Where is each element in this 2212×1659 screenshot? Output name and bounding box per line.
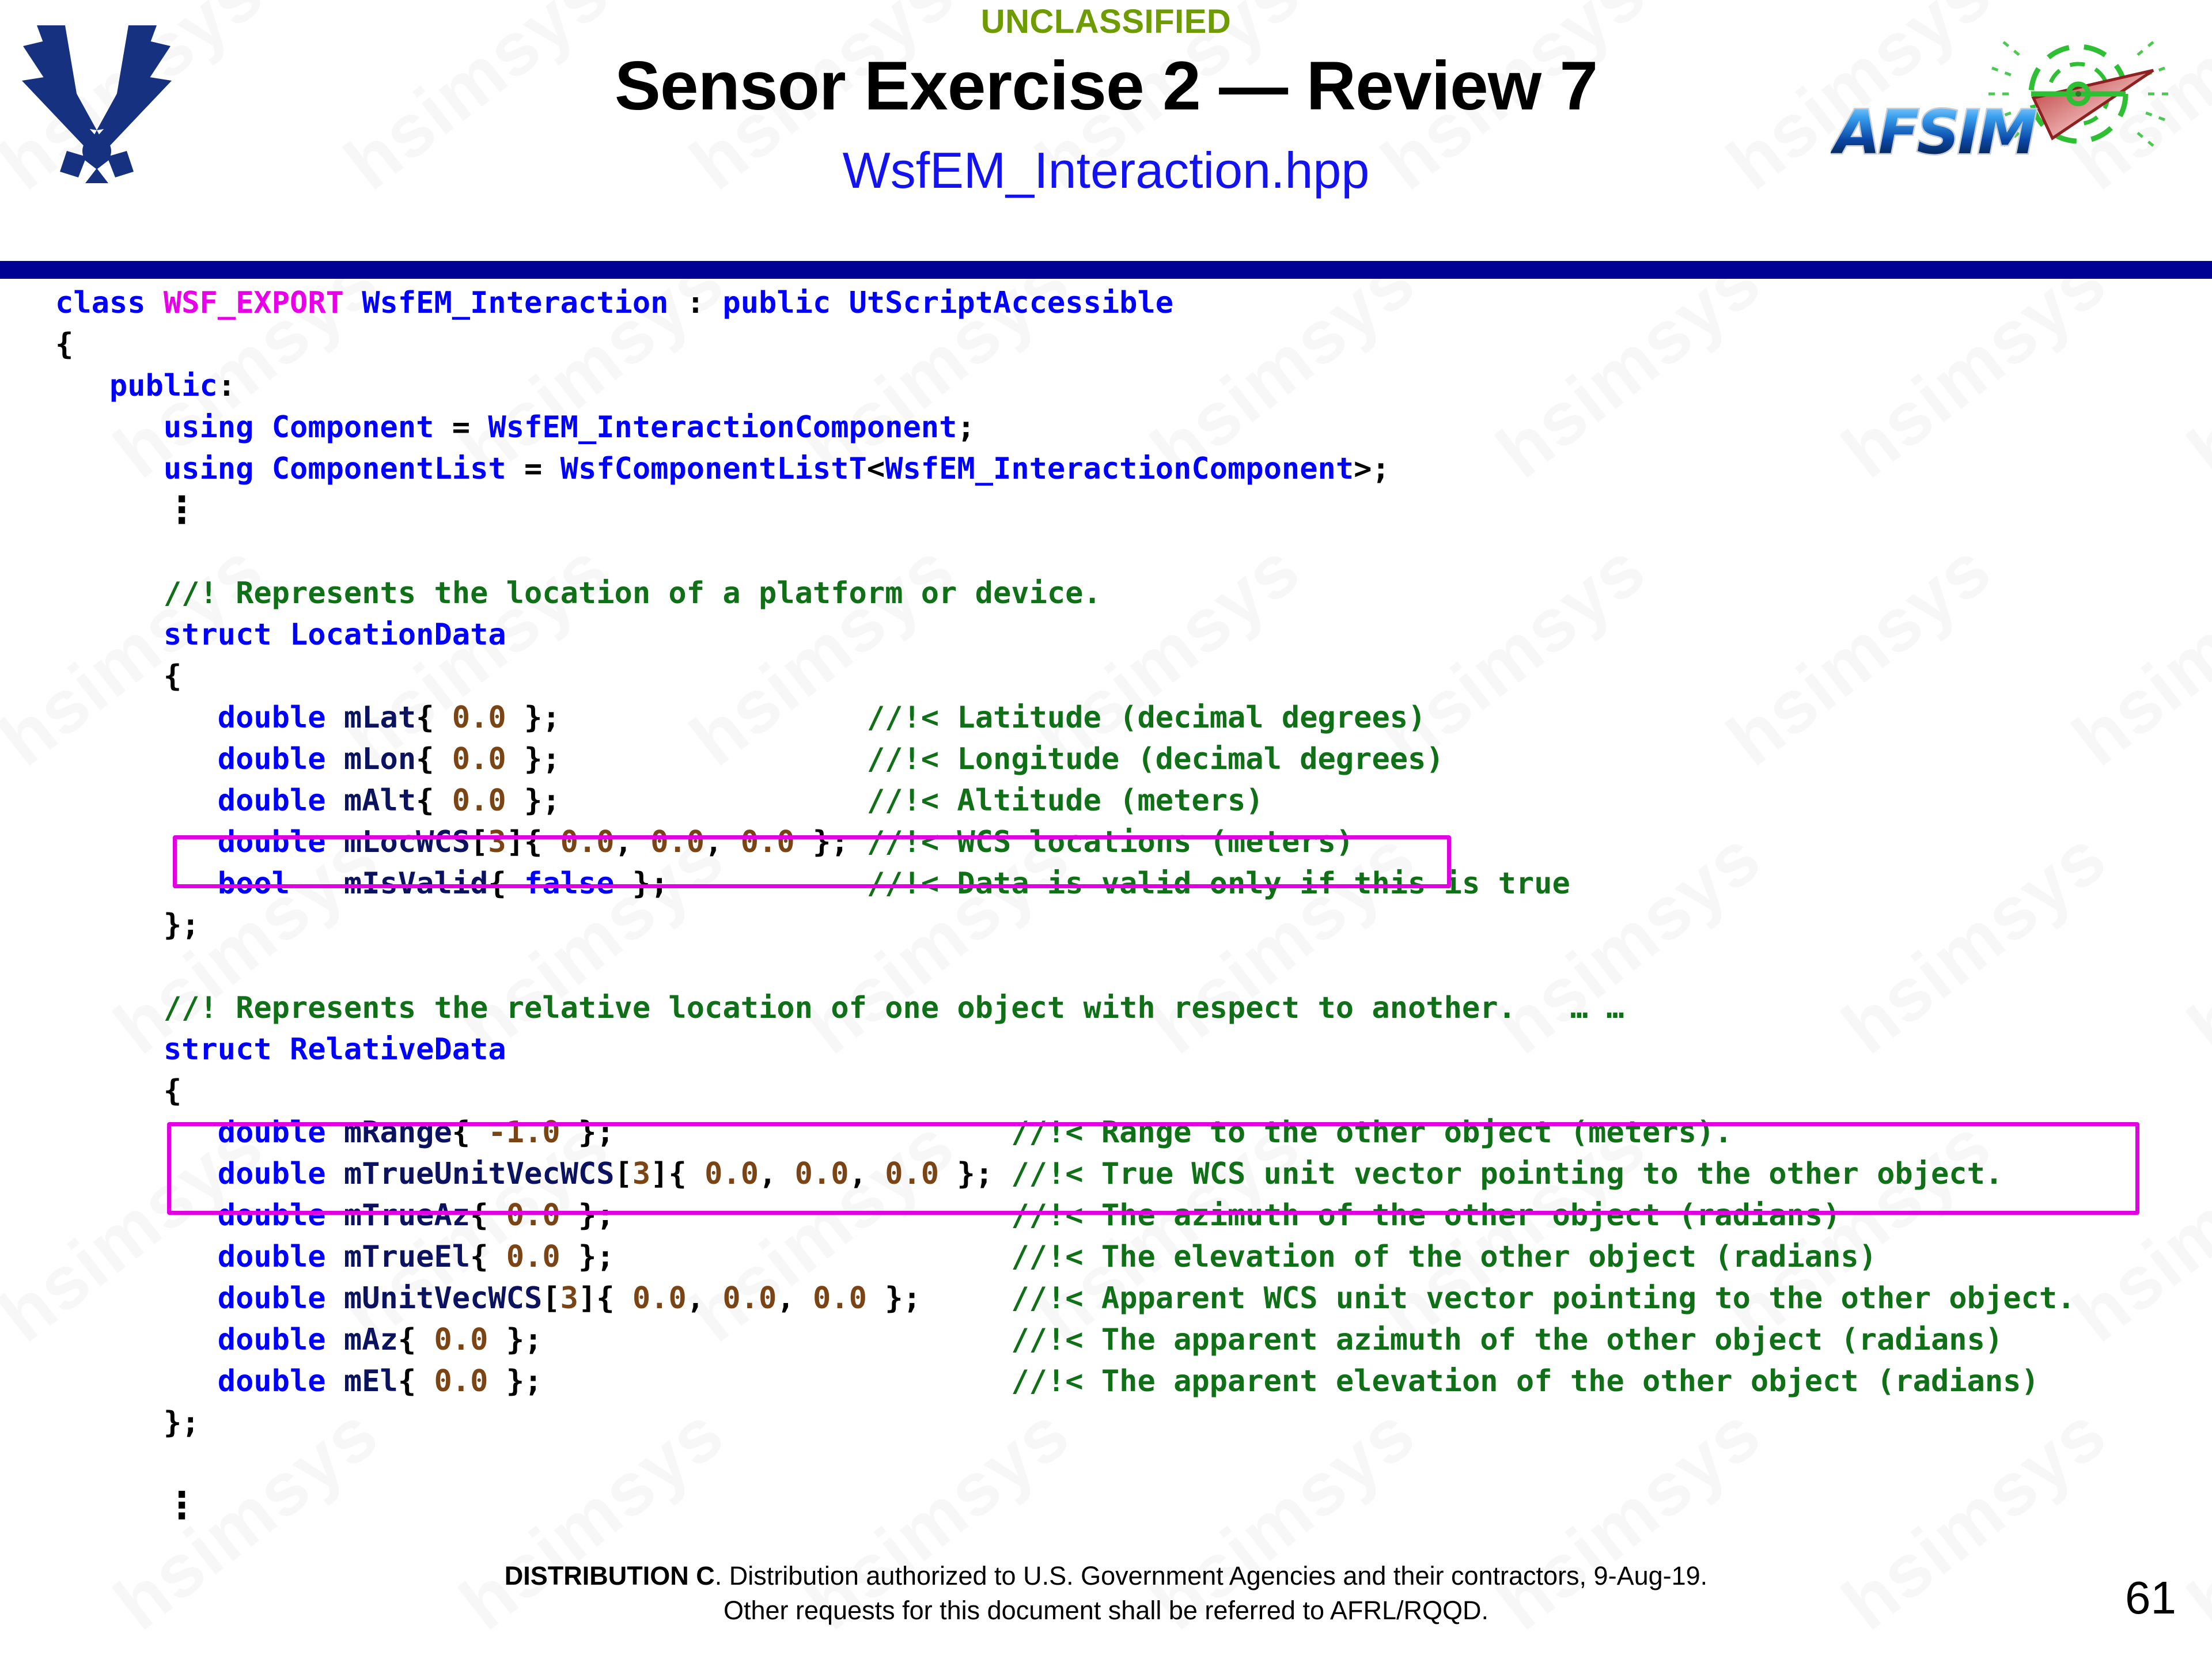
header-divider-rule	[0, 261, 2212, 279]
distribution-label: DISTRIBUTION C	[505, 1561, 715, 1590]
code-line: class WSF_EXPORT WsfEM_Interaction : pub…	[55, 282, 1173, 324]
code-line: using Component = WsfEM_InteractionCompo…	[55, 407, 975, 448]
code-line: //! Represents the relative location of …	[55, 987, 1624, 1029]
afsim-logo: AFSIM	[1831, 10, 2199, 183]
page-number: 61	[2125, 1571, 2176, 1624]
code-listing: class WSF_EXPORT WsfEM_Interaction : pub…	[0, 282, 2212, 1544]
code-line: struct RelativeData	[55, 1029, 506, 1070]
code-line: using ComponentList = WsfComponentListT<…	[55, 448, 1390, 490]
code-line: {	[55, 656, 181, 697]
code-ellipsis: ⋮	[164, 1487, 200, 1524]
code-line: double mEl{ 0.0 }; //!< The apparent ele…	[55, 1361, 2039, 1402]
code-line: //! Represents the location of a platfor…	[55, 573, 1101, 614]
code-line: double mLocWCS[3]{ 0.0, 0.0, 0.0 }; //!<…	[55, 821, 1354, 863]
code-line: double mTrueUnitVecWCS[3]{ 0.0, 0.0, 0.0…	[55, 1153, 2003, 1195]
code-line: double mLon{ 0.0 }; //!< Longitude (deci…	[55, 738, 1444, 780]
slide-footer: DISTRIBUTION C. Distribution authorized …	[0, 1550, 2212, 1659]
code-line: double mTrueAz{ 0.0 }; //!< The azimuth …	[55, 1195, 1840, 1236]
code-line: bool mIsValid{ false }; //!< Data is val…	[55, 863, 1570, 904]
code-line: };	[55, 1402, 199, 1444]
code-line: double mLat{ 0.0 }; //!< Latitude (decim…	[55, 697, 1426, 738]
code-line: struct LocationData	[55, 614, 506, 656]
code-line: double mUnitVecWCS[3]{ 0.0, 0.0, 0.0 }; …	[55, 1278, 2075, 1319]
code-line: double mAlt{ 0.0 }; //!< Altitude (meter…	[55, 780, 1264, 821]
code-line: double mTrueEl{ 0.0 }; //!< The elevatio…	[55, 1236, 1877, 1278]
slide-header: UNCLASSIFIED Sensor Exercise 2 — Review …	[0, 0, 2212, 262]
distribution-statement-line1: DISTRIBUTION C. Distribution authorized …	[0, 1561, 2212, 1591]
code-line: double mAz{ 0.0 }; //!< The apparent azi…	[55, 1319, 2003, 1361]
code-line: {	[55, 1070, 181, 1112]
code-line: };	[55, 904, 199, 946]
code-line: double mRange{ -1.0 }; //!< Range to the…	[55, 1112, 1733, 1153]
distribution-statement-line2: Other requests for this document shall b…	[0, 1596, 2212, 1626]
code-line: public:	[55, 365, 236, 407]
svg-text:AFSIM: AFSIM	[1831, 97, 2036, 168]
code-line: {	[55, 324, 73, 365]
distribution-text: . Distribution authorized to U.S. Govern…	[715, 1561, 1707, 1590]
code-ellipsis: ⋮	[164, 492, 200, 529]
